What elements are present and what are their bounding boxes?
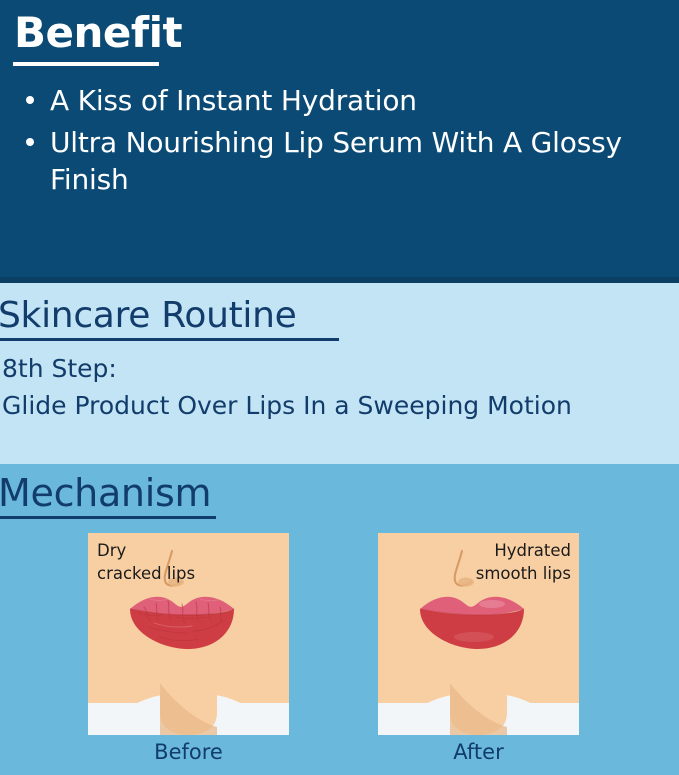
routine-step-label: 8th Step: <box>2 355 117 383</box>
bullet-dot-icon <box>26 96 34 104</box>
card-note-after: Hydrated smooth lips <box>476 539 571 586</box>
benefit-bullet-text: Ultra Nourishing Lip Serum With A Glossy… <box>50 126 622 197</box>
card-note-line2: cracked lips <box>97 562 195 585</box>
card-note-line2: smooth lips <box>476 562 571 585</box>
list-item: Ultra Nourishing Lip Serum With A Glossy… <box>20 124 640 199</box>
skincare-routine-heading-underline <box>0 338 339 341</box>
card-note-line1: Dry <box>97 539 195 562</box>
list-item: A Kiss of Instant Hydration <box>20 82 640 120</box>
caption-after: After <box>378 741 579 764</box>
card-note-line1: Hydrated <box>476 539 571 562</box>
mechanism-card-after: Hydrated smooth lips <box>378 533 579 735</box>
infographic-page: Benefit A Kiss of Instant Hydration Ultr… <box>0 0 679 775</box>
skincare-routine-heading: Skincare Routine <box>0 298 297 334</box>
mechanism-heading-underline <box>0 516 216 519</box>
benefit-heading: Benefit <box>14 12 182 54</box>
mechanism-card-before: Dry cracked lips <box>88 533 289 735</box>
card-note-before: Dry cracked lips <box>97 539 195 586</box>
mechanism-heading: Mechanism <box>0 474 211 512</box>
benefit-bullet-list: A Kiss of Instant Hydration Ultra Nouris… <box>20 82 640 203</box>
benefit-bullet-text: A Kiss of Instant Hydration <box>50 84 417 117</box>
bullet-dot-icon <box>26 138 34 146</box>
benefit-heading-underline <box>13 62 159 66</box>
routine-step-text: Glide Product Over Lips In a Sweeping Mo… <box>2 392 572 420</box>
caption-before: Before <box>88 741 289 764</box>
